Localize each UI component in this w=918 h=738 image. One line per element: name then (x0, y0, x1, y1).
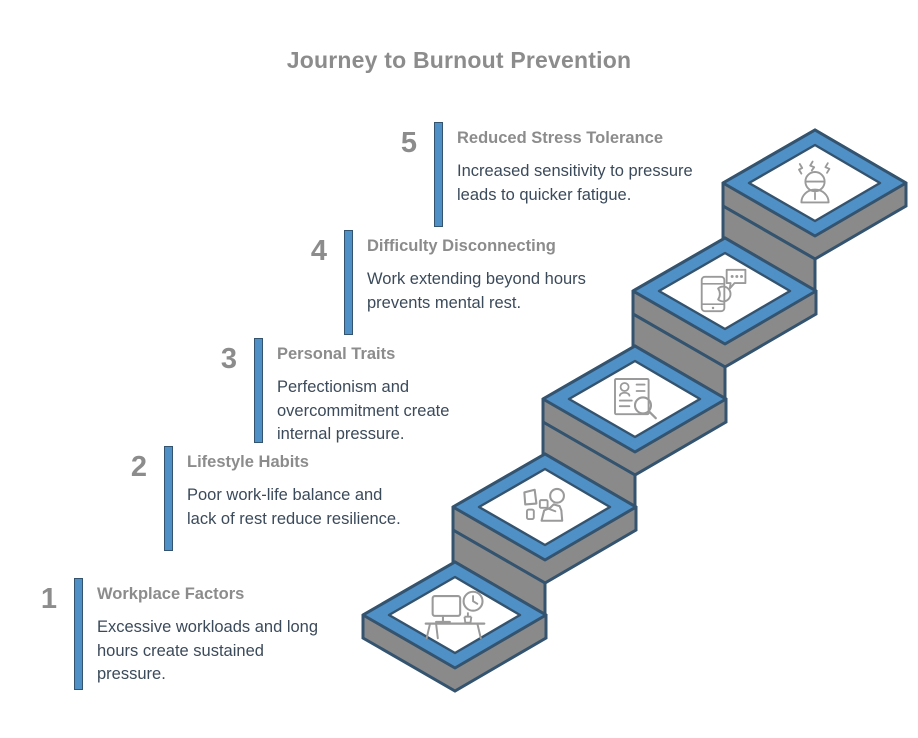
profile-document-magnifier-icon (615, 379, 656, 418)
stair-platform-1 (363, 562, 546, 668)
stair-riser-3 (543, 346, 726, 475)
stair-platform-3 (543, 346, 726, 452)
step-title-4: Difficulty Disconnecting (367, 236, 597, 257)
step-title-2: Lifestyle Habits (187, 452, 403, 473)
step-number-3: 3 (191, 345, 237, 374)
stair-connector-3-4 (633, 314, 725, 421)
person-relaxing-armchair-icon (524, 489, 564, 521)
step-description-3: Perfectionism and overcommitment create … (277, 376, 505, 448)
stair-platform-5 (723, 130, 906, 236)
step-description-2: Poor work-life balance and lack of rest … (187, 484, 403, 532)
step-accent-bar-2 (164, 446, 173, 551)
step-description-5: Increased sensitivity to pressure leads … (457, 160, 705, 208)
desk-monitor-clock-icon (426, 592, 484, 638)
stair-platform-4 (633, 238, 816, 344)
step-description-1: Excessive workloads and long hours creat… (97, 616, 329, 688)
stair-riser-5 (723, 130, 906, 259)
stair-connector-4-5 (723, 206, 815, 313)
step-accent-bar-3 (254, 338, 263, 443)
stair-riser-4 (633, 238, 816, 367)
stair-connector-2-3 (543, 422, 635, 529)
stair-riser-2 (453, 454, 636, 583)
step-number-4: 4 (281, 237, 327, 266)
phone-moon-chat-icon (702, 270, 746, 311)
step-number-2: 2 (101, 453, 147, 482)
stair-riser-1 (363, 562, 546, 691)
page-title: Journey to Burnout Prevention (0, 47, 918, 74)
stair-platform-2 (453, 454, 636, 560)
step-description-4: Work extending beyond hours prevents men… (367, 268, 597, 316)
stressed-person-icon (799, 162, 829, 203)
stair-connector-1-2 (453, 530, 545, 637)
step-accent-bar-4 (344, 230, 353, 335)
step-number-5: 5 (371, 129, 417, 158)
step-number-1: 1 (11, 585, 57, 614)
step-accent-bar-1 (74, 578, 83, 690)
step-title-1: Workplace Factors (97, 584, 329, 605)
step-title-5: Reduced Stress Tolerance (457, 128, 705, 149)
step-title-3: Personal Traits (277, 344, 505, 365)
step-accent-bar-5 (434, 122, 443, 227)
